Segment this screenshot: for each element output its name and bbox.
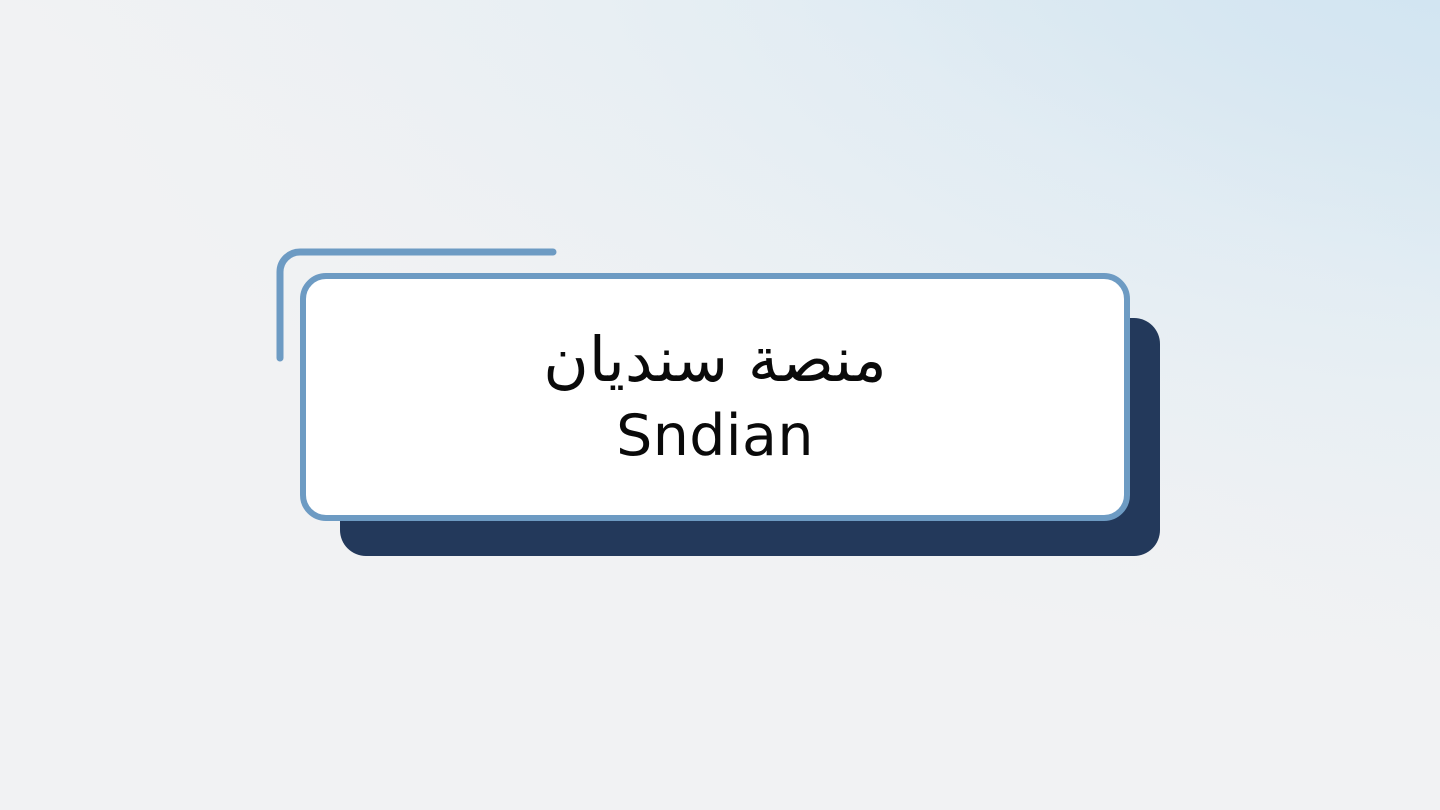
title-graphic-group: منصة سنديان Sndian [268, 240, 1178, 570]
title-slide: منصة سنديان Sndian [0, 0, 1440, 810]
title-card: منصة سنديان Sndian [300, 273, 1130, 521]
title-arabic: منصة سنديان [543, 325, 887, 394]
title-latin: Sndian [616, 404, 814, 470]
